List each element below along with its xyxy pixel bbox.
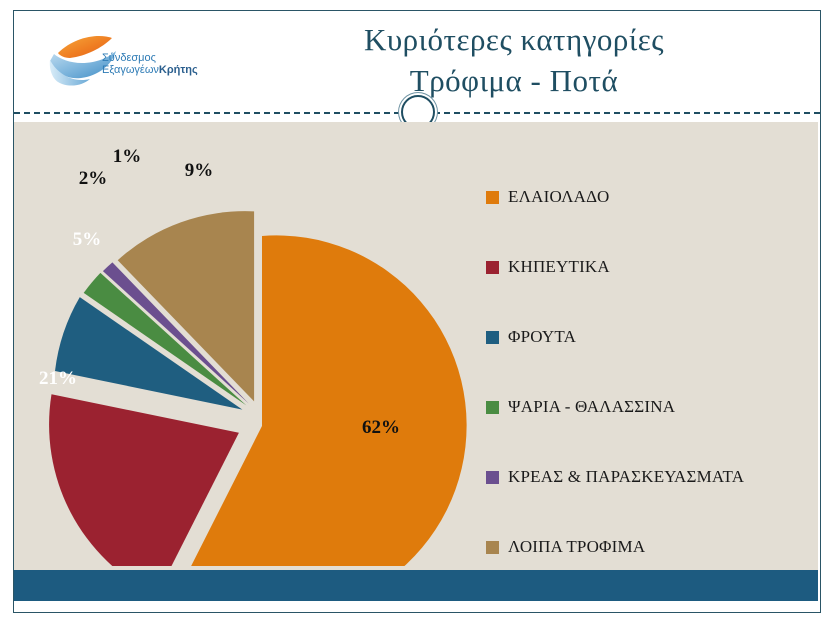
legend-label: ΚΡΕΑΣ & ΠΑΡΑΣΚΕΥΑΣΜΑΤΑ	[508, 467, 744, 487]
legend-label: ΨΑΡΙΑ - ΘΑΛΑΣΣΙΝΑ	[508, 397, 675, 417]
legend-item-kipeftika[interactable]: ΚΗΠΕΥΤΙΚΑ	[486, 232, 816, 302]
slide-footer-bar	[14, 570, 818, 601]
slide: Σύνδεσμος ΕξαγωγέωνΚρήτης Κυριότερες κατ…	[0, 0, 834, 623]
legend-marker-icon	[486, 191, 499, 204]
legend-label: ΚΗΠΕΥΤΙΚΑ	[508, 257, 610, 277]
syndesmos-exagogeon-kritis-logo: Σύνδεσμος ΕξαγωγέωνΚρήτης	[40, 29, 200, 95]
legend-item-elaiolado[interactable]: ΕΛΑΙΟΛΑΔΟ	[486, 162, 816, 232]
legend-item-kreas-paraskevasmata[interactable]: ΚΡΕΑΣ & ΠΑΡΑΣΚΕΥΑΣΜΑΤΑ	[486, 442, 816, 512]
legend-marker-icon	[486, 331, 499, 344]
logo-text-line2: ΕξαγωγέωνΚρήτης	[102, 64, 198, 76]
page-title: Κυριότερες κατηγορίες Τρόφιμα - Ποτά	[214, 19, 814, 101]
page-title-line-1: Κυριότερες κατηγορίες	[214, 19, 814, 60]
legend-marker-icon	[486, 401, 499, 414]
pie-label-kreas-paraskevasmata: 1%	[113, 146, 142, 167]
legend-label: ΦΡΟΥΤΑ	[508, 327, 576, 347]
pie-label-psaria-thalassina: 2%	[79, 168, 108, 189]
pie-label-loipa-trofima: 9%	[185, 160, 214, 181]
legend-item-psaria-thalassina[interactable]: ΨΑΡΙΑ - ΘΑΛΑΣΣΙΝΑ	[486, 372, 816, 442]
pie-label-kipeftika: 21%	[39, 368, 77, 389]
legend-marker-icon	[486, 261, 499, 274]
legend-item-frouta[interactable]: ΦΡΟΥΤΑ	[486, 302, 816, 372]
legend-label: ΕΛΑΙΟΛΑΔΟ	[508, 187, 609, 207]
legend-marker-icon	[486, 471, 499, 484]
chart-legend: ΕΛΑΙΟΛΑΔΟ ΚΗΠΕΥΤΙΚΑ ΦΡΟΥΤΑ ΨΑΡΙΑ - ΘΑΛΑΣ…	[486, 162, 816, 582]
frame-border-bottom	[13, 612, 821, 613]
page-title-line-2: Τρόφιμα - Ποτά	[214, 60, 814, 101]
frame-border-right	[820, 10, 821, 613]
chart-panel: 62% 21% 5% 2% 1% 9% ΕΛΑΙΟΛΑΔΟ ΚΗΠΕΥΤΙΚΑ …	[14, 122, 818, 570]
pie-chart: 62% 21% 5% 2% 1% 9%	[24, 126, 494, 566]
legend-label: ΛΟΙΠΑ ΤΡΟΦΙΜΑ	[508, 537, 645, 557]
pie-label-frouta: 5%	[73, 229, 102, 250]
legend-marker-icon	[486, 541, 499, 554]
logo-text-line1: Σύνδεσμος	[102, 52, 156, 64]
pie-label-elaiolado: 62%	[362, 417, 400, 438]
